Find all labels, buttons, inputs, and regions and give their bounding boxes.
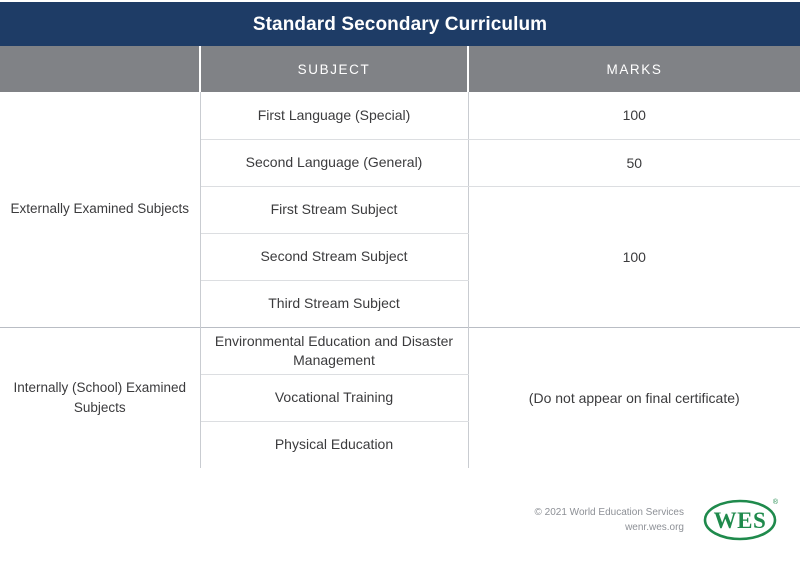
curriculum-table: SUBJECT MARKS Externally Examined Subjec… xyxy=(0,46,800,468)
subject-cell: First Stream Subject xyxy=(200,186,468,233)
wes-logo: WES ® xyxy=(698,495,782,545)
group-label-internally-examined: Internally (School) Examined Subjects xyxy=(0,327,200,468)
table-body: Externally Examined Subjects First Langu… xyxy=(0,92,800,468)
subject-cell: Third Stream Subject xyxy=(200,280,468,327)
footer-copyright: © 2021 World Education Services xyxy=(535,505,684,520)
svg-text:WES: WES xyxy=(714,508,767,533)
column-header-subject: SUBJECT xyxy=(200,46,468,92)
subject-cell: First Language (Special) xyxy=(200,92,468,139)
wes-logo-icon: WES xyxy=(698,495,782,545)
table-row: Externally Examined Subjects First Langu… xyxy=(0,92,800,139)
subject-cell: Second Stream Subject xyxy=(200,233,468,280)
table-row: Internally (School) Examined Subjects En… xyxy=(0,327,800,374)
subject-cell: Second Language (General) xyxy=(200,139,468,186)
title-bar: Standard Secondary Curriculum xyxy=(0,2,800,46)
group-label-externally-examined: Externally Examined Subjects xyxy=(0,92,200,327)
footer: © 2021 World Education Services wenr.wes… xyxy=(0,478,800,561)
footer-credit: © 2021 World Education Services wenr.wes… xyxy=(535,505,684,535)
marks-cell: 100 xyxy=(468,92,800,139)
column-header-group xyxy=(0,46,200,92)
page-title: Standard Secondary Curriculum xyxy=(253,15,547,34)
marks-cell: 50 xyxy=(468,139,800,186)
subject-cell: Vocational Training xyxy=(200,374,468,421)
registered-trademark-icon: ® xyxy=(773,499,778,506)
subject-cell: Environmental Education and Disaster Man… xyxy=(200,327,468,374)
table-header-row: SUBJECT MARKS xyxy=(0,46,800,92)
table-header: SUBJECT MARKS xyxy=(0,46,800,92)
column-header-marks: MARKS xyxy=(468,46,800,92)
footer-website: wenr.wes.org xyxy=(535,520,684,535)
subject-cell: Physical Education xyxy=(200,421,468,468)
marks-cell-merged: (Do not appear on final certificate) xyxy=(468,327,800,468)
marks-cell-merged: 100 xyxy=(468,186,800,327)
curriculum-infographic: Standard Secondary Curriculum SUBJECT MA… xyxy=(0,0,800,561)
